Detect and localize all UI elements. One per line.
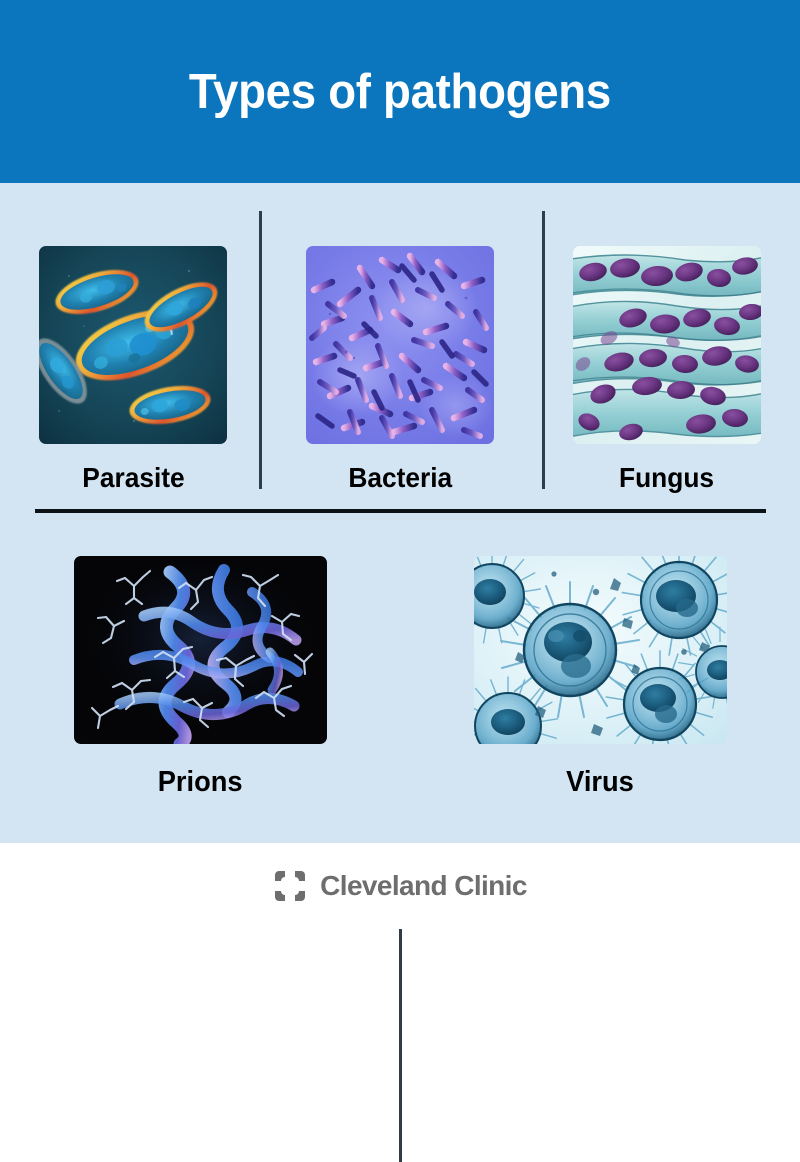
header-banner: Types of pathogens	[0, 0, 800, 183]
pathogen-label-bacteria: Bacteria	[348, 462, 452, 494]
pathogen-row-2: Prions	[0, 528, 800, 828]
pathogen-card-fungus[interactable]: Fungus	[533, 183, 800, 510]
pathogen-card-prions[interactable]: Prions	[0, 528, 400, 828]
cleveland-clinic-logo[interactable]: Cleveland Clinic	[273, 869, 527, 903]
pathogen-card-parasite[interactable]: Parasite	[0, 183, 267, 510]
pathogen-card-virus[interactable]: Virus	[400, 528, 800, 828]
virus-micrograph	[474, 556, 727, 744]
pathogen-card-bacteria[interactable]: Bacteria	[267, 183, 534, 510]
pathogen-label-parasite: Parasite	[82, 462, 184, 494]
row-divider	[35, 509, 766, 513]
pathogen-label-fungus: Fungus	[619, 462, 714, 494]
page-title: Types of pathogens	[189, 64, 611, 120]
pathogen-types-infographic: Types of pathogens	[0, 0, 800, 929]
prion-render	[74, 556, 327, 744]
pathogen-label-virus: Virus	[566, 766, 634, 799]
column-divider-2	[542, 211, 545, 489]
pathogen-label-prions: Prions	[158, 766, 243, 799]
pathogen-row-1: Parasite	[0, 183, 800, 510]
bacteria-micrograph	[306, 246, 494, 444]
cleveland-clinic-quadrant-mark	[273, 869, 307, 903]
logo-wordmark: Cleveland Clinic	[320, 870, 527, 902]
column-divider-1	[259, 211, 262, 489]
fungus-micrograph	[573, 246, 761, 444]
parasite-micrograph	[39, 246, 227, 444]
content-panel: Parasite	[0, 183, 800, 843]
footer-bar: Cleveland Clinic	[0, 843, 800, 929]
